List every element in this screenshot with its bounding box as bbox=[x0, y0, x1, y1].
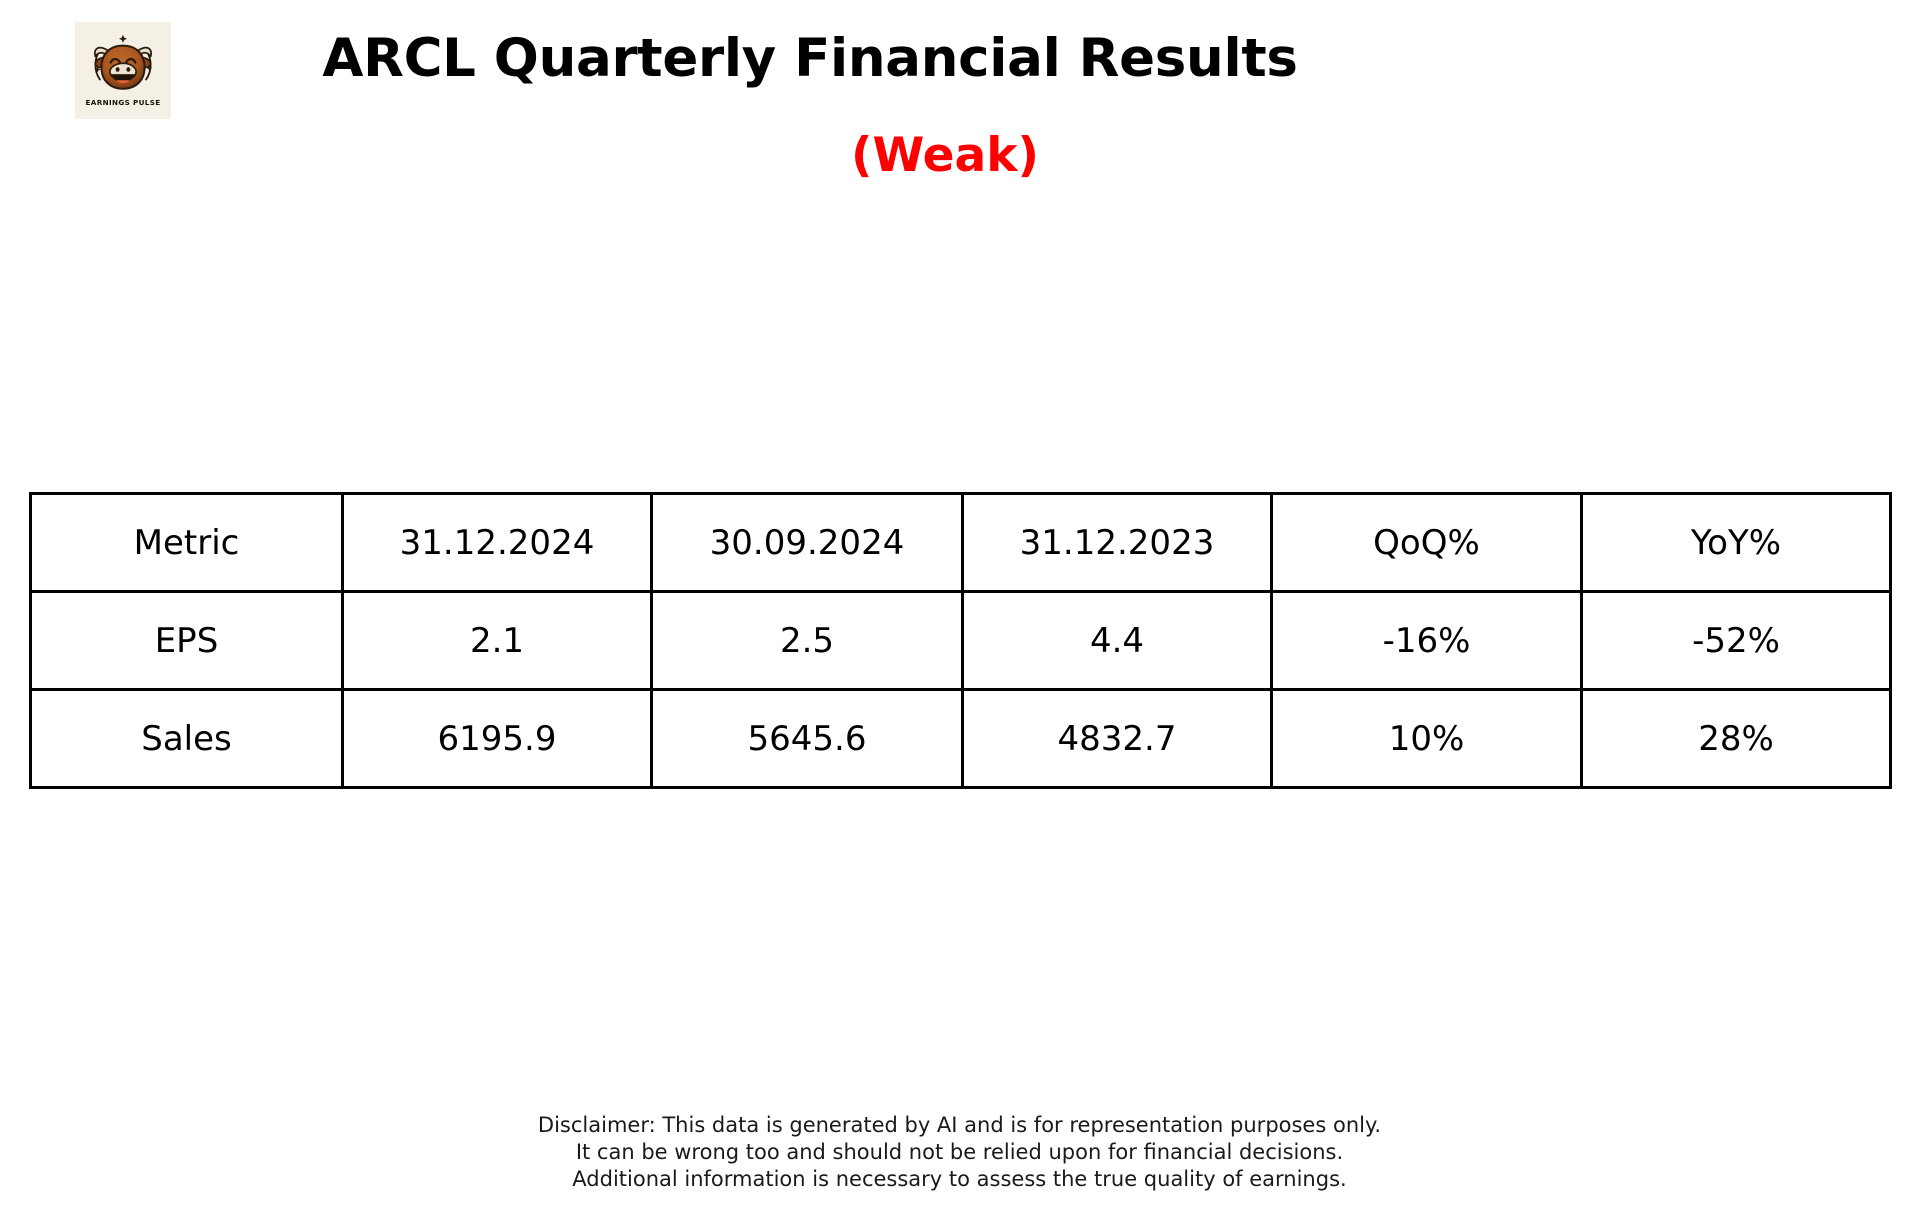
sales-qoq-change: 10% bbox=[1272, 690, 1582, 788]
row-label-sales: Sales bbox=[31, 690, 343, 788]
disclaimer-line-3: Additional information is necessary to a… bbox=[0, 1166, 1919, 1193]
eps-current-quarter: 2.1 bbox=[343, 592, 652, 690]
verdict-badge: (Weak) bbox=[0, 128, 1890, 183]
sales-prev-year: 4832.7 bbox=[963, 690, 1272, 788]
eps-prev-year: 4.4 bbox=[963, 592, 1272, 690]
column-header-current-quarter: 31.12.2024 bbox=[343, 494, 652, 592]
column-header-metric: Metric bbox=[31, 494, 343, 592]
table-row: Sales 6195.9 5645.6 4832.7 10% 28% bbox=[31, 690, 1891, 788]
column-header-prev-year: 31.12.2023 bbox=[963, 494, 1272, 592]
sales-prev-quarter: 5645.6 bbox=[652, 690, 963, 788]
disclaimer-line-1: Disclaimer: This data is generated by AI… bbox=[0, 1112, 1919, 1139]
row-label-eps: EPS bbox=[31, 592, 343, 690]
sales-yoy-change: 28% bbox=[1582, 690, 1891, 788]
table-header-row: Metric 31.12.2024 30.09.2024 31.12.2023 … bbox=[31, 494, 1891, 592]
eps-qoq-change: -16% bbox=[1272, 592, 1582, 690]
disclaimer: Disclaimer: This data is generated by AI… bbox=[0, 1112, 1919, 1193]
column-header-qoq: QoQ% bbox=[1272, 494, 1582, 592]
table-row: EPS 2.1 2.5 4.4 -16% -52% bbox=[31, 592, 1891, 690]
logo-wordmark: EARNINGS PULSE bbox=[86, 98, 161, 107]
page-title: ARCL Quarterly Financial Results bbox=[0, 28, 1620, 89]
sales-current-quarter: 6195.9 bbox=[343, 690, 652, 788]
quarterly-results-table: Metric 31.12.2024 30.09.2024 31.12.2023 … bbox=[29, 492, 1892, 789]
eps-yoy-change: -52% bbox=[1582, 592, 1891, 690]
column-header-prev-quarter: 30.09.2024 bbox=[652, 494, 963, 592]
disclaimer-line-2: It can be wrong too and should not be re… bbox=[0, 1139, 1919, 1166]
eps-prev-quarter: 2.5 bbox=[652, 592, 963, 690]
column-header-yoy: YoY% bbox=[1582, 494, 1891, 592]
